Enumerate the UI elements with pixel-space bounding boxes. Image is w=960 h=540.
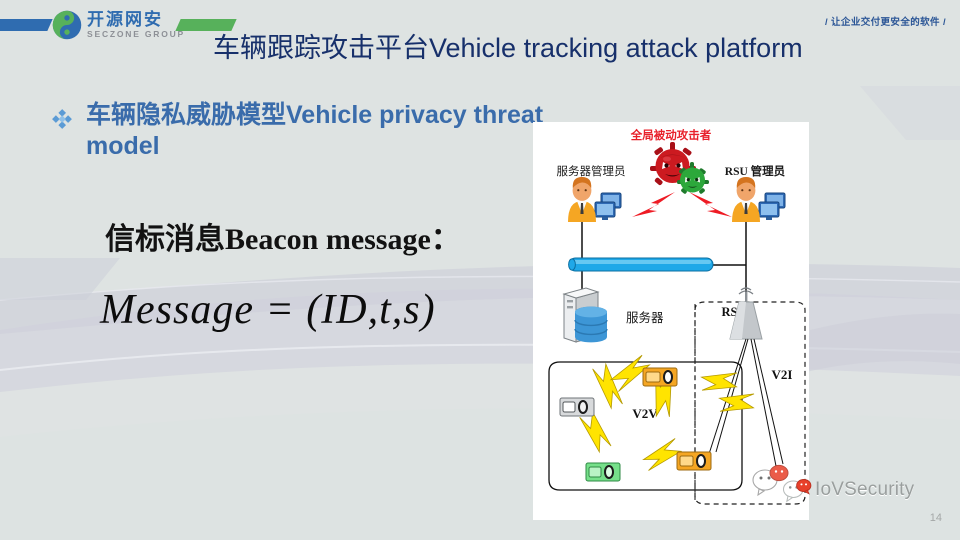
server-label: 服务器 [626, 310, 664, 325]
orange-car-icon-2 [677, 452, 711, 470]
green-car-icon [586, 463, 620, 481]
server-admin-label: 服务器管理员 [557, 164, 626, 178]
slide-header: 开源网安 SECZONE GROUP / 让企业交付更安全的软件 / 车辆跟踪攻… [0, 0, 960, 68]
watermark-label: IoVSecurity [815, 479, 914, 501]
v2v-label: V2V [632, 406, 658, 421]
rsu-admin-label: RSU 管理员 [725, 164, 786, 178]
page-title: 车辆跟踪攻击平台Vehicle tracking attack platform [213, 26, 803, 65]
slide-canvas: 开源网安 SECZONE GROUP / 让企业交付更安全的软件 / 车辆跟踪攻… [0, 0, 960, 540]
brand-logo: 开源网安 SECZONE GROUP [52, 10, 185, 40]
header-tagline: / 让企业交付更安全的软件 / [825, 14, 946, 28]
seczone-circle-logo-icon [52, 10, 82, 40]
blue-parallelogram-accent [0, 19, 53, 31]
diamond-bullet-icon [52, 109, 72, 129]
attacker-title-text: 全局被动攻击者 [630, 128, 712, 142]
v2i-label: V2I [772, 367, 793, 382]
logo-company-cn: 开源网安 [87, 11, 185, 28]
beacon-formula: Message = (ID,t,s) [100, 286, 436, 334]
wechat-logo-icon [782, 477, 812, 503]
bullet-item: 车辆隐私威胁模型Vehicle privacy threat model [52, 100, 552, 161]
network-bus-bar [569, 258, 713, 271]
threat-model-diagram: 全局被动攻击者 [533, 122, 809, 520]
page-number: 14 [930, 512, 942, 524]
orange-car-icon [643, 368, 677, 386]
bullet-item-label: 车辆隐私威胁模型Vehicle privacy threat model [86, 100, 552, 161]
beacon-message-label: 信标消息Beacon message： [105, 214, 461, 258]
iov-security-watermark: IoVSecurity [782, 477, 914, 503]
background-decoration [0, 0, 960, 540]
white-car-icon [560, 398, 594, 416]
logo-company-en: SECZONE GROUP [87, 30, 185, 39]
